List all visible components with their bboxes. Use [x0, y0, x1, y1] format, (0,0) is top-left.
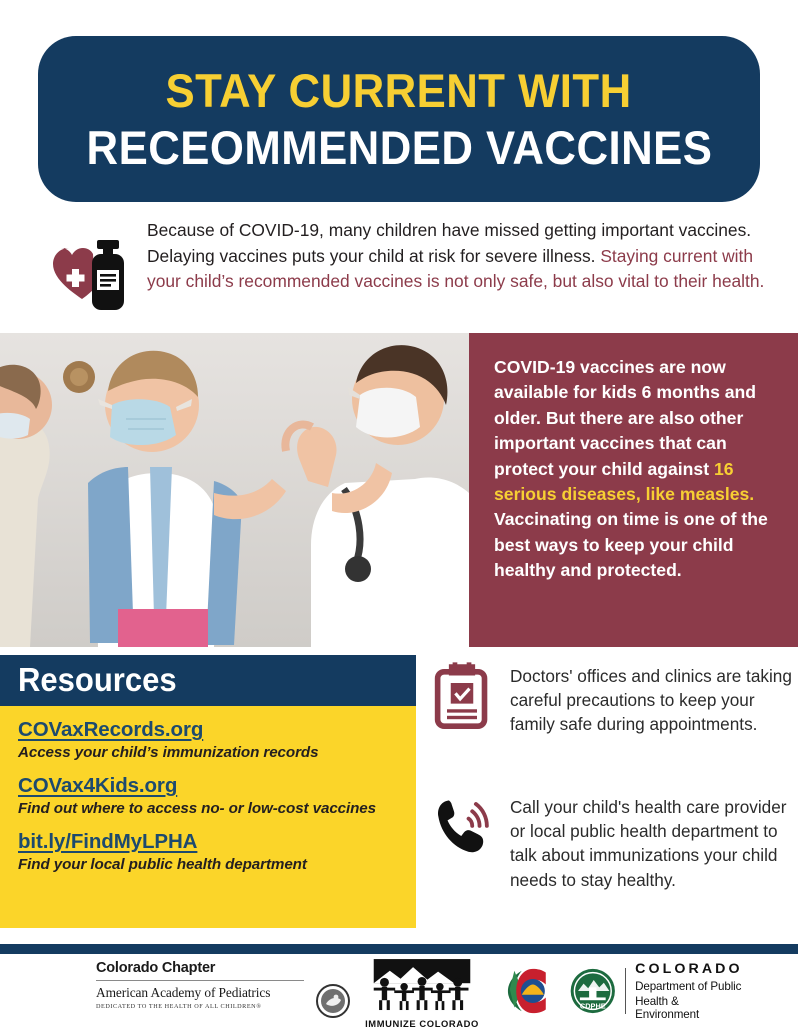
resource-desc-findmylpha: Find your local public health department: [18, 856, 402, 873]
cdphe-wordmark: COLORADO Department of Public Health & E…: [635, 962, 745, 1021]
clinic-photo: [0, 333, 469, 647]
intro-section: Because of COVID-19, many children have …: [32, 218, 772, 328]
resource-desc-covax4kids: Find out where to access no- or low-cost…: [18, 800, 402, 817]
resource-link-covax4kids[interactable]: COVax4Kids.org: [18, 774, 177, 798]
aap-tagline-label: DEDICATED TO THE HEALTH OF ALL CHILDREN®: [96, 1003, 346, 1010]
phone-ringing-icon: [432, 793, 510, 892]
tip-call-provider-text: Call your child's health care provider o…: [510, 793, 792, 892]
cdphe-logo: CDPHE COLORADO Department of Public Heal…: [505, 962, 745, 1021]
aap-divider-rule: [96, 980, 304, 981]
resource-item: COVaxRecords.org Access your child’s imm…: [18, 718, 402, 761]
immunize-colorado-logo: IMMUNIZE COLORADO: [352, 959, 492, 1029]
colorado-c-logo-icon: [505, 967, 563, 1015]
resource-link-findmylpha[interactable]: bit.ly/FindMyLPHA: [18, 830, 197, 854]
footer-logos: Colorado Chapter American Academy of Ped…: [0, 958, 798, 1036]
cdphe-seal-icon: CDPHE: [567, 967, 619, 1015]
header-title-line1: STAY CURRENT WITH: [166, 67, 632, 115]
aap-colorado-chapter-logo: Colorado Chapter American Academy of Ped…: [96, 960, 346, 1010]
tip-call-provider: Call your child's health care provider o…: [432, 793, 792, 892]
resources-list: COVaxRecords.org Access your child’s imm…: [0, 706, 416, 928]
maroon-text-part2: Vaccinating on time is one of the best w…: [494, 509, 768, 580]
svg-text:CDPHE: CDPHE: [579, 1002, 605, 1011]
heart-vaccine-vial-icon: [38, 226, 136, 318]
tip-doctors-offices: Doctors' offices and clinics are taking …: [432, 662, 792, 739]
cdphe-colorado-label: COLORADO: [635, 962, 745, 978]
covid-vaccine-info-panel: COVID-19 vaccines are now available for …: [469, 333, 798, 647]
infographic-page: STAY CURRENT WITH RECEOMMENDED VACCINES …: [0, 0, 798, 1036]
resource-link-covaxrecords[interactable]: COVaxRecords.org: [18, 718, 203, 742]
aap-name-label: American Academy of Pediatrics: [96, 985, 346, 1001]
tip-doctors-offices-text: Doctors' offices and clinics are taking …: [510, 662, 792, 739]
header-banner: STAY CURRENT WITH RECEOMMENDED VACCINES: [38, 36, 760, 202]
cdphe-divider: [625, 968, 626, 1014]
cdphe-dept-line1: Department of Public: [635, 980, 745, 993]
intro-paragraph: Because of COVID-19, many children have …: [147, 218, 772, 295]
resource-desc-covaxrecords: Access your child’s immunization records: [18, 744, 402, 761]
immunize-colorado-people-mountain-icon: [363, 959, 481, 1011]
aap-seal-icon: [316, 984, 350, 1018]
resource-item: bit.ly/FindMyLPHA Find your local public…: [18, 830, 402, 873]
immunize-colorado-label: IMMUNIZE COLORADO: [352, 1018, 492, 1029]
clinic-photo-illustration: [0, 333, 469, 647]
covid-vaccine-info-text: COVID-19 vaccines are now available for …: [494, 355, 776, 584]
resources-header-bar: Resources: [0, 655, 416, 706]
clipboard-checklist-icon: [432, 662, 510, 739]
resources-title: Resources: [18, 661, 177, 699]
aap-colorado-chapter-label: Colorado Chapter: [96, 960, 346, 976]
resource-item: COVax4Kids.org Find out where to access …: [18, 774, 402, 817]
header-title-line2: RECEOMMENDED VACCINES: [86, 124, 712, 172]
cdphe-dept-line2: Health & Environment: [635, 995, 745, 1021]
footer-divider-band: [0, 944, 798, 954]
